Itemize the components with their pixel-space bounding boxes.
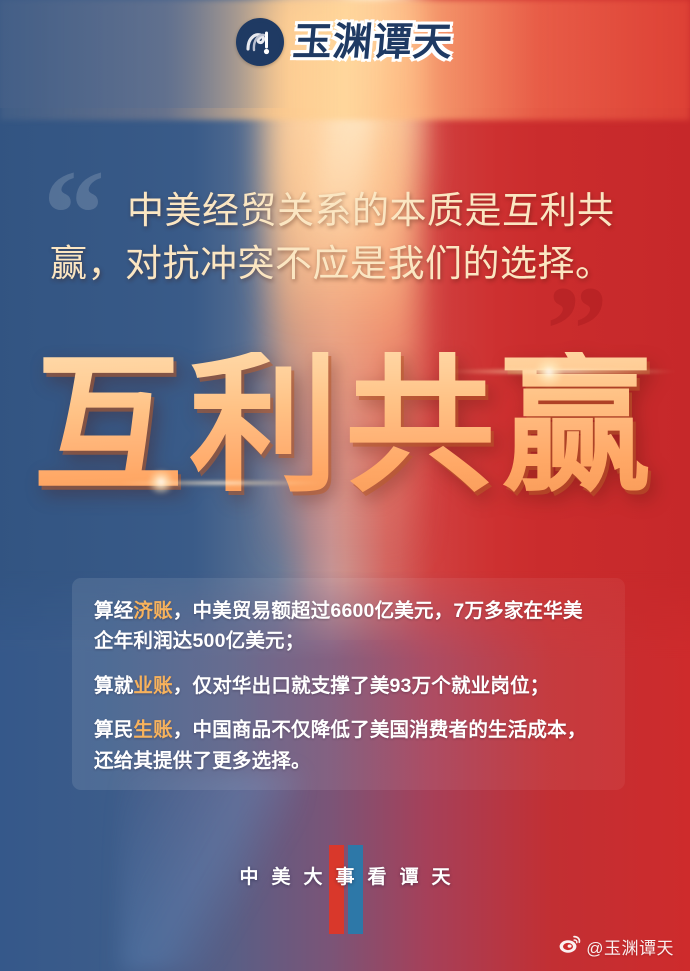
fact-lead-plain: 算民	[94, 719, 133, 741]
quote-text: 中美经贸关系的本质是互利共赢，对抗冲突不应是我们的选择。	[50, 186, 646, 291]
facts-card: 算经济账，中美贸易额超过6600亿美元，7万多家在华美企年利润达500亿美元； …	[72, 578, 625, 790]
fact-lead-accent: 生账	[133, 719, 172, 741]
fact-body: ，仅对华出口就支撑了美93万个就业岗位；	[173, 675, 550, 697]
fact-lead-plain: 算经	[94, 600, 133, 622]
fact-item: 算民生账，中国商品不仅降低了美国消费者的生活成本，还给其提供了更多选择。	[94, 715, 599, 776]
fact-item: 算就业账，仅对华出口就支撑了美93万个就业岗位；	[94, 671, 599, 701]
footer-accent-bar-blue	[348, 845, 363, 934]
yuyuan-tantian-wave-logo-icon	[236, 18, 284, 66]
brand-name: 玉渊谭天	[292, 23, 455, 62]
fact-lead-accent: 业账	[133, 675, 172, 697]
fact-lead-accent: 济账	[133, 600, 172, 622]
poster-canvas: 玉渊谭天 “ ” 中美经贸关系的本质是互利共赢，对抗冲突不应是我们的选择。 互利…	[0, 0, 690, 971]
footer-slogan: 中美大事看谭天	[226, 862, 463, 889]
weibo-icon	[559, 935, 581, 958]
headline-text: 互利共赢	[33, 352, 657, 502]
footer-accent-bar-red	[329, 845, 344, 934]
weibo-handle: @玉渊谭天	[586, 934, 674, 959]
brand-header: 玉渊谭天	[0, 18, 690, 66]
headline-block: 互利共赢	[0, 352, 690, 502]
weibo-watermark: @玉渊谭天	[559, 934, 674, 959]
fact-lead-plain: 算就	[94, 675, 133, 697]
footer-slogan-block: 中美大事看谭天	[0, 862, 690, 889]
fact-item: 算经济账，中美贸易额超过6600亿美元，7万多家在华美企年利润达500亿美元；	[94, 596, 599, 657]
